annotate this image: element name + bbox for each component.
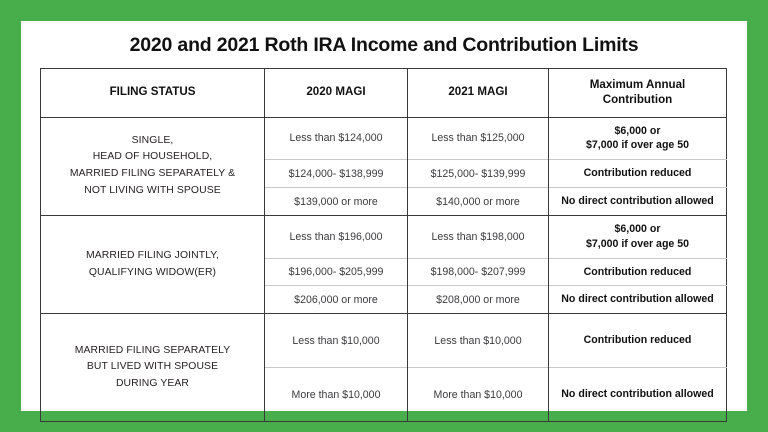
magi-2020-cell: Less than $10,000 <box>265 314 408 368</box>
max-contribution-header-line-2: Contribution <box>603 93 673 106</box>
column-header-magi-2021: 2021 MAGI <box>408 69 549 118</box>
limits-table-container: FILING STATUS 2020 MAGI 2021 MAGI Maximu… <box>40 68 726 422</box>
magi-2020-cell: Less than $124,000 <box>265 117 408 160</box>
max-contribution-cell: $6,000 or $7,000 if over age 50 <box>549 117 727 160</box>
magi-2021-cell: $140,000 or more <box>408 188 549 216</box>
filing-status-cell-married-separately: MARRIED FILING SEPARATELY BUT LIVED WITH… <box>41 314 265 422</box>
magi-2021-cell: Less than $125,000 <box>408 117 549 160</box>
magi-2021-cell: $198,000- $207,999 <box>408 258 549 286</box>
status-line: QUALIFYING WIDOW(ER) <box>89 267 216 278</box>
page-title: 2020 and 2021 Roth IRA Income and Contri… <box>21 21 747 69</box>
content-card: 2020 and 2021 Roth IRA Income and Contri… <box>21 21 747 411</box>
table-row: MARRIED FILING JOINTLY, QUALIFYING WIDOW… <box>41 215 727 258</box>
table-row: MARRIED FILING SEPARATELY BUT LIVED WITH… <box>41 314 727 368</box>
filing-status-cell-married-jointly: MARRIED FILING JOINTLY, QUALIFYING WIDOW… <box>41 215 265 313</box>
table-section-married-separately-lived-with-spouse: MARRIED FILING SEPARATELY BUT LIVED WITH… <box>41 314 727 422</box>
table-row: SINGLE, HEAD OF HOUSEHOLD, MARRIED FILIN… <box>41 117 727 160</box>
table-section-single: SINGLE, HEAD OF HOUSEHOLD, MARRIED FILIN… <box>41 117 727 215</box>
max-contribution-cell: Contribution reduced <box>549 160 727 188</box>
magi-2021-cell: Less than $10,000 <box>408 314 549 368</box>
magi-2020-cell: $206,000 or more <box>265 286 408 314</box>
magi-2020-cell: $139,000 or more <box>265 188 408 216</box>
max-contribution-cell: Contribution reduced <box>549 258 727 286</box>
max-contribution-line-2: $7,000 if over age 50 <box>586 139 689 151</box>
max-contribution-cell: No direct contribution allowed <box>549 188 727 216</box>
max-contribution-line-1: $6,000 or <box>615 223 661 235</box>
max-contribution-cell: No direct contribution allowed <box>549 368 727 422</box>
header-row: FILING STATUS 2020 MAGI 2021 MAGI Maximu… <box>41 69 727 118</box>
table-section-married-jointly: MARRIED FILING JOINTLY, QUALIFYING WIDOW… <box>41 215 727 313</box>
status-line: HEAD OF HOUSEHOLD, <box>93 151 213 162</box>
status-line: MARRIED FILING SEPARATELY <box>75 345 231 356</box>
magi-2021-cell: $125,000- $139,999 <box>408 160 549 188</box>
column-header-magi-2020: 2020 MAGI <box>265 69 408 118</box>
max-contribution-line-1: $6,000 or <box>615 125 661 137</box>
magi-2020-cell: Less than $196,000 <box>265 215 408 258</box>
max-contribution-cell: No direct contribution allowed <box>549 286 727 314</box>
magi-2020-cell: $124,000- $138,999 <box>265 160 408 188</box>
magi-2021-cell: $208,000 or more <box>408 286 549 314</box>
column-header-max-contribution: Maximum Annual Contribution <box>549 69 727 118</box>
magi-2020-cell: $196,000- $205,999 <box>265 258 408 286</box>
page-root: 2020 and 2021 Roth IRA Income and Contri… <box>0 0 768 432</box>
max-contribution-cell: $6,000 or $7,000 if over age 50 <box>549 215 727 258</box>
status-line: BUT LIVED WITH SPOUSE <box>87 361 218 372</box>
column-header-filing-status: FILING STATUS <box>41 69 265 118</box>
magi-2021-cell: More than $10,000 <box>408 368 549 422</box>
max-contribution-line-2: $7,000 if over age 50 <box>586 238 689 250</box>
status-line: SINGLE, <box>132 135 174 146</box>
status-line: DURING YEAR <box>116 378 189 389</box>
magi-2021-cell: Less than $198,000 <box>408 215 549 258</box>
magi-2020-cell: More than $10,000 <box>265 368 408 422</box>
status-line: MARRIED FILING JOINTLY, <box>86 250 219 261</box>
max-contribution-cell: Contribution reduced <box>549 314 727 368</box>
max-contribution-header-line-1: Maximum Annual <box>590 78 686 91</box>
status-line: NOT LIVING WITH SPOUSE <box>84 185 221 196</box>
roth-ira-limits-table: FILING STATUS 2020 MAGI 2021 MAGI Maximu… <box>40 68 727 422</box>
filing-status-cell-single: SINGLE, HEAD OF HOUSEHOLD, MARRIED FILIN… <box>41 117 265 215</box>
status-line: MARRIED FILING SEPARATELY & <box>70 168 235 179</box>
table-header: FILING STATUS 2020 MAGI 2021 MAGI Maximu… <box>41 69 727 118</box>
